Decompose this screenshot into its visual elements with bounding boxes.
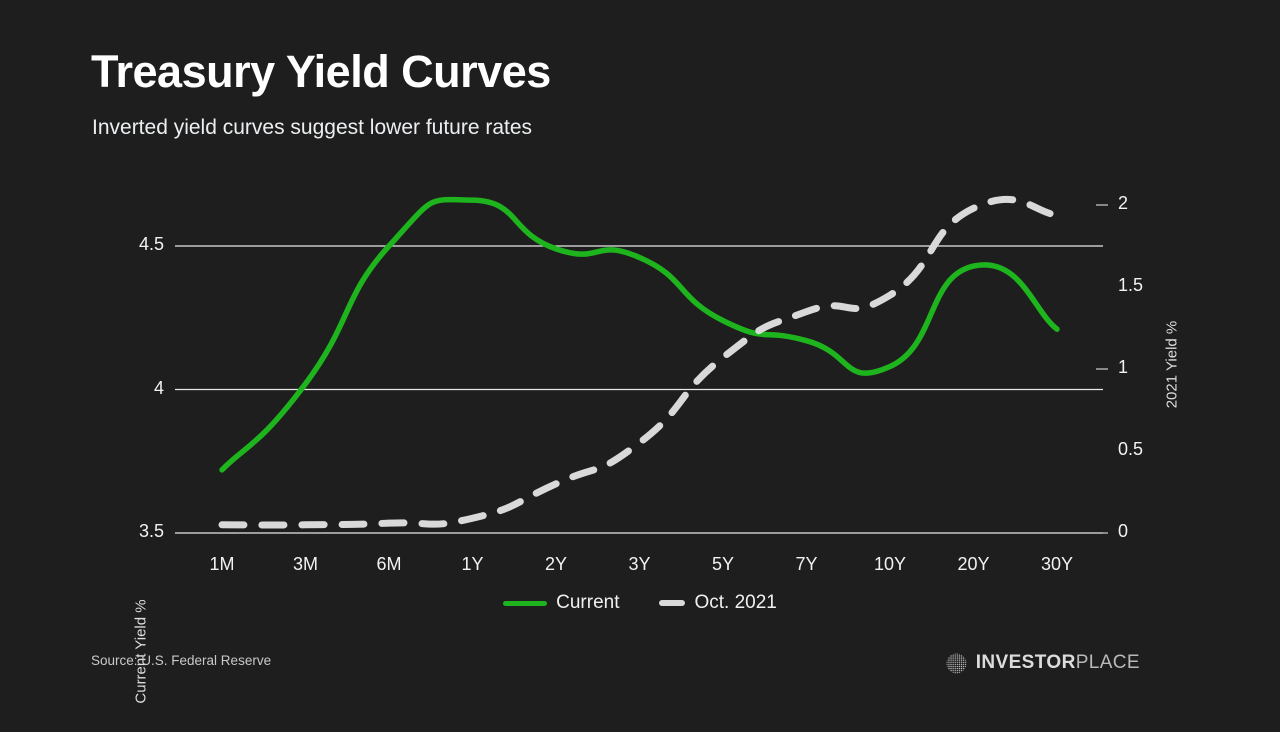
left-axis-tick-label: 4 (104, 378, 164, 399)
right-axis-tick-label: 1 (1118, 357, 1178, 378)
legend-label-current: Current (556, 592, 619, 614)
right-axis-tick-label: 0.5 (1118, 439, 1178, 460)
left-axis-tick-label: 4.5 (104, 234, 164, 255)
x-axis-tick-label: 5Y (683, 554, 763, 575)
x-axis-tick-label: 20Y (934, 554, 1014, 575)
series-line-oct-2021 (222, 199, 1057, 525)
x-axis-tick-label: 6M (349, 554, 429, 575)
x-axis-tick-label: 7Y (767, 554, 847, 575)
x-axis-tick-label: 1Y (433, 554, 513, 575)
legend-item-current[interactable]: Current (503, 592, 619, 614)
brand-wordmark-light: PLACE (1076, 652, 1140, 673)
series-line-current (222, 200, 1057, 470)
chart-legend: Current Oct. 2021 (0, 592, 1280, 614)
legend-item-oct-2021[interactable]: Oct. 2021 (659, 592, 776, 614)
right-axis-tick-label: 1.5 (1118, 275, 1178, 296)
left-axis-tick-label: 3.5 (104, 521, 164, 542)
x-axis-tick-label: 10Y (850, 554, 930, 575)
legend-label-oct-2021: Oct. 2021 (694, 592, 776, 614)
right-axis-tick-label: 2 (1118, 193, 1178, 214)
brand-logo-group: INVESTORPLACE (946, 652, 1140, 674)
legend-swatch-dashed-icon (659, 600, 685, 606)
x-axis-tick-label: 3Y (600, 554, 680, 575)
x-axis-tick-label: 30Y (1017, 554, 1097, 575)
x-axis-tick-label: 3M (266, 554, 346, 575)
source-note: Source: U.S. Federal Reserve (91, 653, 271, 668)
brand-wordmark-bold: INVESTOR (976, 652, 1076, 673)
x-axis-tick-label: 1M (182, 554, 262, 575)
chart-page: Treasury Yield Curves Inverted yield cur… (0, 0, 1280, 720)
legend-swatch-solid-icon (503, 601, 547, 606)
x-axis-tick-label: 2Y (516, 554, 596, 575)
globe-icon (946, 653, 967, 674)
right-axis-tick-label: 0 (1118, 521, 1178, 542)
brand-wordmark: INVESTORPLACE (976, 652, 1140, 674)
